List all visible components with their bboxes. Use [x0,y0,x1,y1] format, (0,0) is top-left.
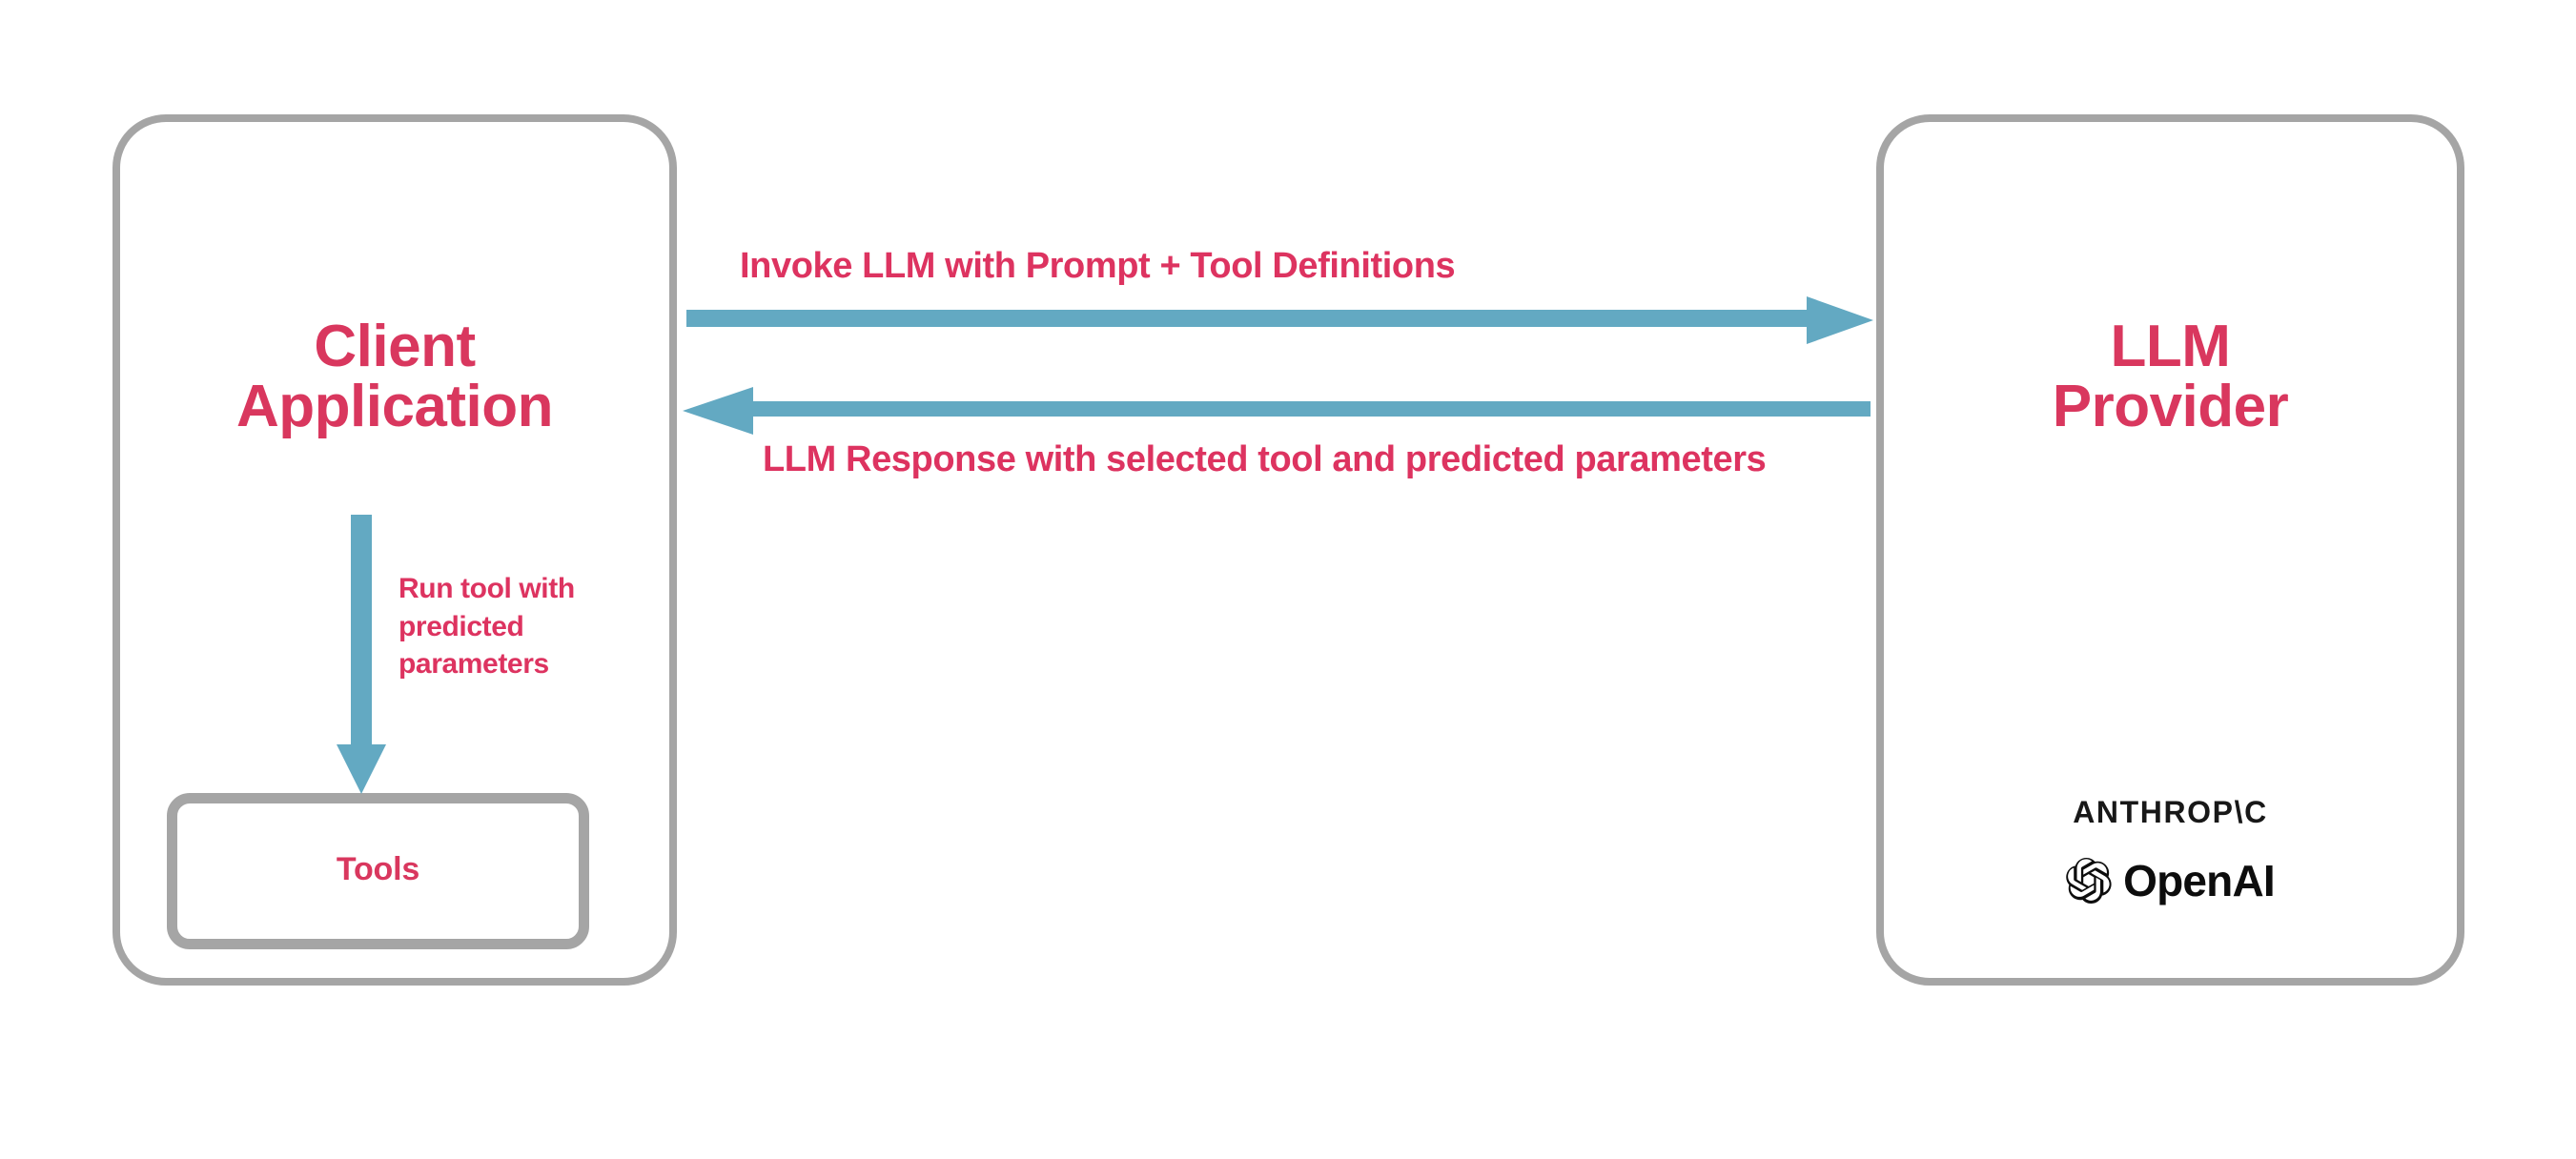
llm-provider-title: LLM Provider [1876,316,2464,437]
response-arrow [683,387,1871,435]
diagram-canvas: Client Application Tools Run tool with p… [0,0,2576,1159]
openai-wordmark: OpenAI [2123,859,2275,903]
invoke-arrow-label: Invoke LLM with Prompt + Tool Definition… [740,246,1455,287]
openai-mark-icon [2066,858,2112,904]
invoke-arrow [686,296,1873,344]
llm-provider-node[interactable] [1876,114,2464,986]
response-arrow-label: LLM Response with selected tool and pred… [763,439,1766,480]
openai-logo-group: OpenAI [1876,858,2464,904]
client-application-title: Client Application [112,316,677,437]
tools-label: Tools [167,851,589,888]
anthropic-logo: ANTHROP\C [1876,795,2464,830]
run-tool-arrow-label: Run tool with predicted parameters [399,570,656,683]
